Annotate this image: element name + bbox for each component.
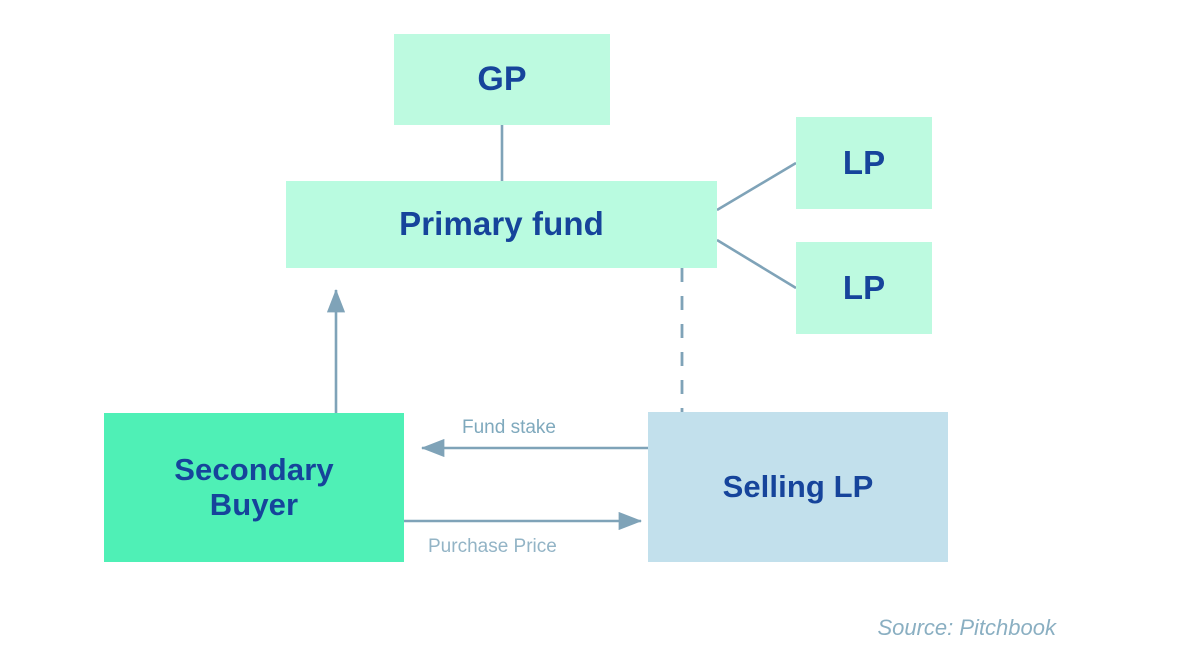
node-lp-1[interactable]: LP <box>796 117 932 209</box>
edge-primary-fund-to-lp-2 <box>717 240 796 288</box>
diagram-canvas: GP Primary fund LP LP Secondary Buyer Se… <box>0 0 1198 670</box>
node-selling-lp[interactable]: Selling LP <box>648 412 948 562</box>
node-secondary-buyer[interactable]: Secondary Buyer <box>104 413 404 562</box>
node-lp-2[interactable]: LP <box>796 242 932 334</box>
node-gp-label: GP <box>477 60 526 98</box>
node-lp-2-label: LP <box>843 270 885 307</box>
edge-label-fund-stake: Fund stake <box>462 417 556 439</box>
node-secondary-buyer-label-line-2: Buyer <box>210 487 298 522</box>
node-gp[interactable]: GP <box>394 34 610 125</box>
edge-label-purchase-price: Purchase Price <box>428 536 557 558</box>
node-selling-lp-label: Selling LP <box>723 470 874 505</box>
node-primary-fund-label: Primary fund <box>399 206 604 243</box>
node-primary-fund[interactable]: Primary fund <box>286 181 717 268</box>
edge-primary-fund-to-lp-1 <box>717 163 796 210</box>
node-lp-1-label: LP <box>843 145 885 182</box>
node-secondary-buyer-label: Secondary Buyer <box>174 453 333 522</box>
node-secondary-buyer-label-line-1: Secondary <box>174 452 333 487</box>
source-attribution: Source: Pitchbook <box>877 615 1056 641</box>
